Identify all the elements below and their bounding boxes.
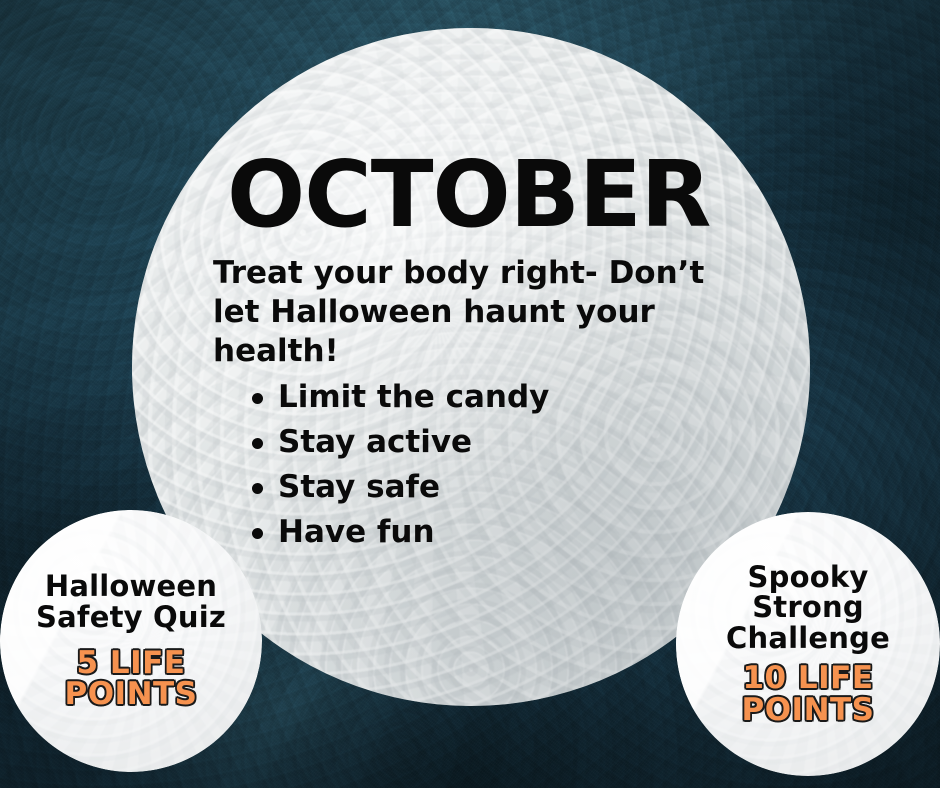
list-item-label: Have fun xyxy=(278,514,435,550)
bullet-dot-icon xyxy=(252,528,263,539)
list-item: Stay active xyxy=(213,420,753,465)
list-item-label: Stay active xyxy=(278,424,472,460)
badge-points-line-1: 5 LIFE xyxy=(10,648,251,680)
list-item-label: Stay safe xyxy=(278,469,440,505)
badge-title-line-2: Safety Quiz xyxy=(10,602,251,633)
october-wellness-poster: OCTOBER Treat your body right- Don’t let… xyxy=(0,0,940,788)
badge-title: Halloween Safety Quiz xyxy=(10,571,251,634)
bullet-dot-icon xyxy=(252,483,263,494)
poster-content: OCTOBER Treat your body right- Don’t let… xyxy=(213,150,753,555)
badge-title-line-2: Strong xyxy=(687,592,930,622)
badge-title-line-1: Spooky xyxy=(687,562,930,592)
badge-title: Spooky Strong Challenge xyxy=(687,562,930,653)
badge-points-line-2: POINTS xyxy=(687,695,930,727)
badge-title-line-3: Challenge xyxy=(687,623,930,653)
page-title: OCTOBER xyxy=(227,150,753,240)
bullet-dot-icon xyxy=(252,393,263,404)
bullet-dot-icon xyxy=(252,438,263,449)
tips-list: Limit the candy Stay active Stay safe Ha… xyxy=(213,375,753,555)
list-item: Stay safe xyxy=(213,465,753,510)
list-item: Limit the candy xyxy=(213,375,753,420)
list-item-label: Limit the candy xyxy=(278,379,549,415)
badge-points: 5 LIFE POINTS xyxy=(10,648,251,711)
badge-title-line-1: Halloween xyxy=(10,571,251,602)
list-item: Have fun xyxy=(213,510,753,555)
badge-points: 10 LIFE POINTS xyxy=(687,663,930,726)
badge-content: Spooky Strong Challenge 10 LIFE POINTS xyxy=(687,562,930,727)
poster-lede: Treat your body right- Don’t let Hallowe… xyxy=(213,254,743,371)
badge-content: Halloween Safety Quiz 5 LIFE POINTS xyxy=(10,571,251,711)
badge-points-line-1: 10 LIFE xyxy=(687,663,930,695)
badge-points-line-2: POINTS xyxy=(10,679,251,711)
